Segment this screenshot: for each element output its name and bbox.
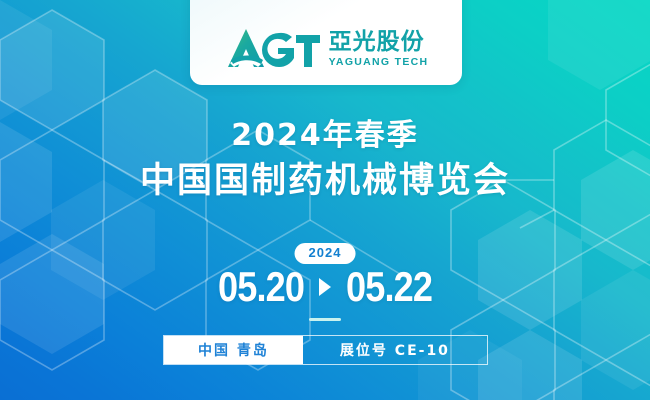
agt-logo-icon <box>224 27 320 71</box>
location-label: 中国 青岛 <box>164 336 303 364</box>
info-bar: 中国 青岛 展位号 CE-10 <box>163 335 488 365</box>
logo-lockup: 亞光股份 YAGUANG TECH <box>224 27 429 71</box>
logo-company-cn: 亞光股份 <box>329 31 425 54</box>
headline-block: 2024年春季 中国国制药机械博览会 <box>0 118 650 204</box>
headline-line-2: 中国国制药机械博览会 <box>0 160 650 204</box>
divider-line <box>309 318 341 321</box>
play-arrow-icon <box>319 278 331 296</box>
date-start: 05.20 <box>218 266 304 308</box>
date-end: 05.22 <box>346 266 432 308</box>
logo-company-en: YAGUANG TECH <box>329 57 429 68</box>
date-range: 05.20 05.22 <box>0 266 650 308</box>
year-badge: 2024 <box>295 243 356 264</box>
booth-number-label: 展位号 CE-10 <box>303 336 487 364</box>
exhibition-banner: 亞光股份 YAGUANG TECH 2024年春季 中国国制药机械博览会 202… <box>0 0 650 400</box>
logo-card: 亞光股份 YAGUANG TECH <box>190 0 462 85</box>
logo-wordmark: 亞光股份 YAGUANG TECH <box>329 31 429 68</box>
headline-line-1: 2024年春季 <box>0 118 650 154</box>
